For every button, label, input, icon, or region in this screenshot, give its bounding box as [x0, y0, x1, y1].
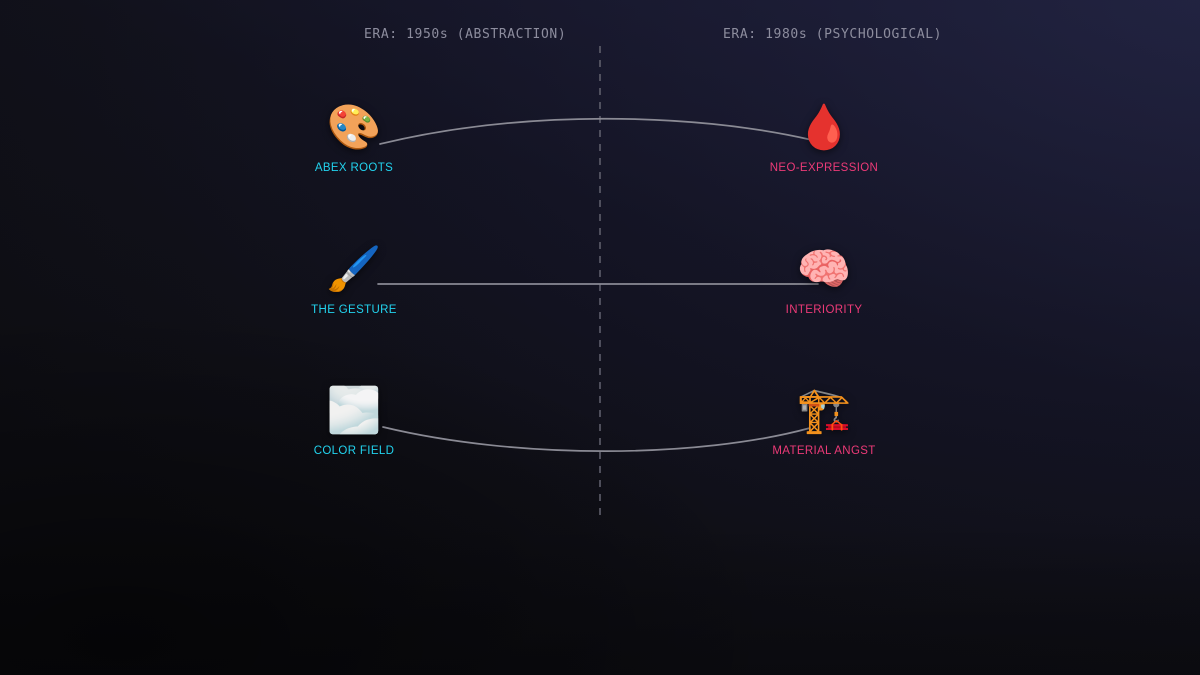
cloud-tile-icon: 🌫️: [269, 383, 439, 439]
node-label-material-angst: MATERIAL ANGST: [739, 445, 909, 457]
node-neo-expression[interactable]: 🩸NEO-EXPRESSION: [739, 100, 909, 174]
paintbrush-icon: 🖌️: [269, 242, 439, 298]
node-label-neo-expression: NEO-EXPRESSION: [739, 162, 909, 174]
era-header-right: ERA: 1980s (PSYCHOLOGICAL): [723, 27, 942, 42]
node-material-angst[interactable]: 🏗️MATERIAL ANGST: [739, 383, 909, 457]
node-color-field[interactable]: 🌫️COLOR FIELD: [269, 383, 439, 457]
node-label-abex-roots: ABEX ROOTS: [269, 162, 439, 174]
construction-crane-icon: 🏗️: [739, 383, 909, 439]
era-header-left: ERA: 1950s (ABSTRACTION): [364, 27, 566, 42]
blood-drop-icon: 🩸: [739, 100, 909, 156]
footer-panel: Vectree The influence of Abstract Expres…: [0, 510, 1200, 675]
node-abex-roots[interactable]: 🎨ABEX ROOTS: [269, 100, 439, 174]
node-the-gesture[interactable]: 🖌️THE GESTURE: [269, 242, 439, 316]
node-interiority[interactable]: 🧠INTERIORITY: [739, 242, 909, 316]
artist-palette-icon: 🎨: [269, 100, 439, 156]
node-label-interiority: INTERIORITY: [739, 304, 909, 316]
node-label-color-field: COLOR FIELD: [269, 445, 439, 457]
node-label-the-gesture: THE GESTURE: [269, 304, 439, 316]
brain-icon: 🧠: [739, 242, 909, 298]
